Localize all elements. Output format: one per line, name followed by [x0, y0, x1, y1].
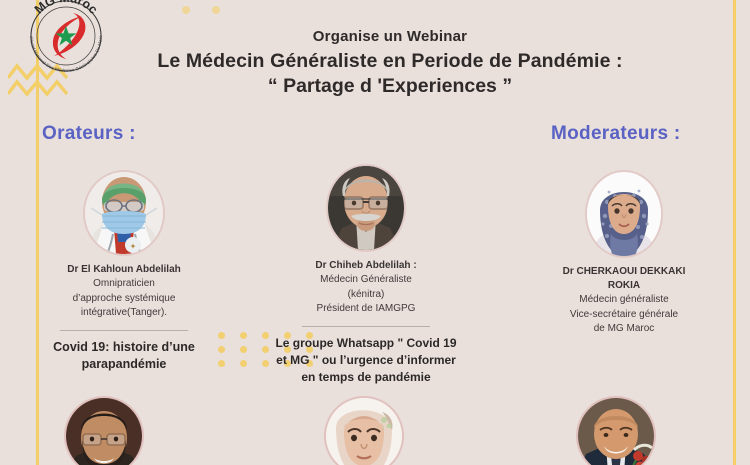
speaker-2-name: Dr Chiheb Abdelilah : — [250, 259, 482, 273]
speaker-2-topic-line-1: Le groupe Whatsapp " Covid 19 — [250, 335, 482, 352]
speaker-1-topic-line-2: parapandémie — [8, 356, 240, 374]
speaker-2-divider — [302, 326, 430, 327]
speaker-2-role-line-2: (kénitra) — [250, 288, 482, 303]
speaker-2-topic-line-2: et MG " ou l’urgence d’informer — [250, 352, 482, 369]
avatar-cherkaoui-dekkaki — [587, 172, 661, 256]
speaker-2-role-line-1: Médecin Généraliste — [250, 273, 482, 288]
moderator-1-name-line-1: Dr CHERKAOUI DEKKAKI — [508, 265, 740, 279]
webinar-title-line-1: Le Médecin Généraliste en Periode de Pan… — [90, 49, 690, 73]
dot — [240, 346, 247, 353]
svg-text:✦: ✦ — [130, 242, 137, 251]
moderators-section-heading: Moderateurs : — [551, 123, 681, 145]
speaker-card-2: Dr Chiheb Abdelilah : Médecin Généralist… — [250, 166, 482, 386]
top-dots-decoration — [182, 6, 220, 14]
avatar-chiheb — [328, 166, 404, 250]
speaker-1-role-line-3: intégrative(Tanger). — [8, 306, 240, 321]
speaker-1-topic-line-1: Covid 19: histoire d’une — [8, 339, 240, 357]
avatar-woman-cream-hijab — [326, 398, 402, 465]
webinar-title-line-2: “ Partage d 'Experiences ” — [90, 73, 690, 99]
speaker-card-1: ✦ Dr El Kahloun Abdelilah Omnipraticien … — [8, 172, 240, 374]
speaker-2-topic-line-3: en temps de pandémie — [250, 369, 482, 386]
speaker-1-role-line-2: d’approche systémique — [8, 292, 240, 307]
avatar-smiling-man-roses — [578, 398, 654, 465]
speaker-1-name: Dr El Kahloun Abdelilah — [8, 263, 240, 277]
dot — [212, 6, 220, 14]
moderator-card-1: Dr CHERKAOUI DEKKAKI ROKIA Médecin génér… — [508, 172, 740, 337]
headline-block: Organise un Webinar Le Médecin Généralis… — [90, 28, 690, 100]
avatar-el-kahloun: ✦ — [85, 172, 163, 254]
speaker-1-divider — [60, 330, 188, 331]
webinar-poster: MG Maroc Collectif National Des Médecins… — [0, 0, 750, 465]
avatar-bearded-man-glasses — [66, 398, 142, 465]
svg-text:MG Maroc: MG Maroc — [32, 0, 101, 17]
moderator-1-role-line-1: Médecin généraliste — [508, 293, 740, 308]
organise-label: Organise un Webinar — [90, 28, 690, 45]
dot — [182, 6, 190, 14]
speaker-1-role-line-1: Omnipraticien — [8, 277, 240, 292]
moderator-1-role-line-3: de MG Maroc — [508, 322, 740, 337]
bottom-avatar-row — [0, 398, 750, 465]
moderator-1-name-line-2: ROKIA — [508, 279, 740, 293]
dot — [240, 360, 247, 367]
speaker-2-role-line-3: Président de IAMGPG — [250, 302, 482, 317]
dot — [240, 332, 247, 339]
moderator-1-role-line-2: Vice-secrétaire générale — [508, 308, 740, 323]
speakers-section-heading: Orateurs : — [42, 123, 136, 145]
